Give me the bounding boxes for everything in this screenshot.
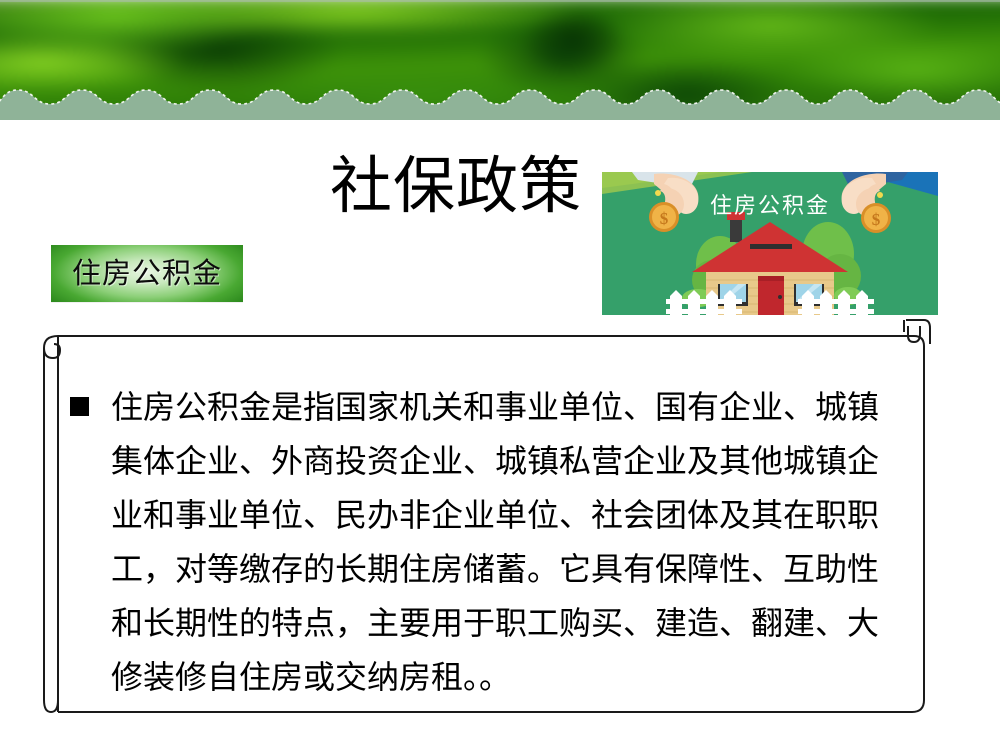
- bullet-list-item: 住房公积金是指国家机关和事业单位、国有企业、城镇集体企业、外商投资企业、城镇私营…: [66, 380, 906, 704]
- slide-canvas: 社保政策 住房公积金 $: [0, 0, 1000, 749]
- svg-text:$: $: [660, 209, 669, 228]
- section-badge[interactable]: 住房公积金: [51, 245, 243, 302]
- page-title: 社保政策: [330, 150, 610, 224]
- body-paragraph-text: 住房公积金是指国家机关和事业单位、国有企业、城镇集体企业、外商投资企业、城镇私营…: [111, 389, 879, 695]
- decorative-header-band: [0, 0, 1000, 120]
- content-text-box: 住房公积金是指国家机关和事业单位、国有企业、城镇集体企业、外商投资企业、城镇私营…: [18, 318, 939, 732]
- illustration-caption: 住房公积金: [710, 194, 830, 218]
- svg-text:$: $: [872, 210, 881, 229]
- body-paragraph-container: 住房公积金是指国家机关和事业单位、国有企业、城镇集体企业、外商投资企业、城镇私营…: [66, 380, 906, 704]
- section-badge-label: 住房公积金: [72, 258, 222, 290]
- housing-provident-fund-illustration: $ $: [602, 172, 938, 315]
- sage-wave-divider: [0, 88, 1000, 120]
- header-top-hairline: [0, 0, 1000, 2]
- square-bullet-icon: [70, 397, 89, 416]
